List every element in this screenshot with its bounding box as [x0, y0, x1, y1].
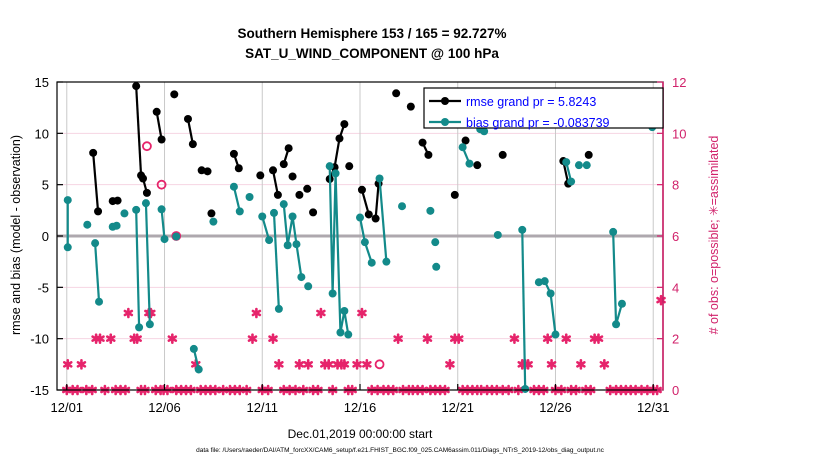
series-point — [95, 298, 103, 306]
y-axis-label-right: # of obs: o=possible; ✳=assimilated — [707, 136, 721, 335]
obs-assimilated-marker — [97, 335, 104, 343]
y-tick-label: 15 — [35, 75, 49, 90]
series-point — [230, 150, 238, 158]
series-point — [309, 208, 317, 216]
series-point — [432, 263, 440, 271]
series-point — [207, 209, 215, 217]
series-point — [89, 149, 97, 157]
series-point — [235, 164, 243, 172]
obs-assimilated-marker — [548, 360, 555, 368]
series-point — [143, 189, 151, 197]
obs-assimilated-marker — [305, 360, 312, 368]
obs-assimilated-marker — [134, 335, 141, 343]
series-point — [419, 139, 427, 147]
series-point — [494, 231, 502, 239]
legend-marker — [441, 97, 449, 105]
series-point — [132, 206, 140, 214]
x-tick-label: 12/06 — [148, 400, 181, 415]
x-tick-label: 12/01 — [51, 400, 84, 415]
obs-assimilated-marker — [563, 335, 570, 343]
obs-assimilated-marker — [169, 335, 176, 343]
y-tick-label-right: 8 — [672, 178, 679, 193]
series-point — [431, 238, 439, 246]
series-point — [142, 199, 150, 207]
series-point — [132, 82, 140, 90]
series-point — [392, 89, 400, 97]
y-tick-label: -10 — [30, 332, 49, 347]
x-tick-label: 12/26 — [539, 400, 572, 415]
x-tick-label: 12/21 — [441, 400, 474, 415]
obs-assimilated-marker — [341, 360, 348, 368]
series-point — [583, 161, 591, 169]
obs-assimilated-marker — [125, 309, 132, 317]
series-point — [289, 172, 297, 180]
series-point — [270, 209, 278, 217]
series-point — [285, 144, 293, 152]
series-point — [344, 331, 352, 339]
obs-assimilated-marker — [317, 309, 324, 317]
obs-assimilated-marker — [296, 360, 303, 368]
series-point — [424, 151, 432, 159]
series-point — [329, 289, 337, 297]
series-point — [499, 151, 507, 159]
series-point — [326, 162, 334, 170]
obs-assimilated-marker — [446, 360, 453, 368]
obs-assimilated-marker — [249, 335, 256, 343]
obs-assimilated-marker — [253, 309, 260, 317]
series-point — [426, 207, 434, 215]
obs-assimilated-marker — [511, 335, 518, 343]
obs-assimilated-marker — [64, 360, 71, 368]
obs-assimilated-marker — [544, 335, 551, 343]
y-tick-label: 10 — [35, 126, 49, 141]
series-point — [94, 207, 102, 215]
obs-assimilated-marker — [270, 335, 277, 343]
y-tick-label-right: 4 — [672, 280, 679, 295]
series-point — [336, 329, 344, 337]
series-point — [304, 282, 312, 290]
series-point — [146, 320, 154, 328]
obs-assimilated-marker — [363, 360, 370, 368]
y-axis-label: rmse and bias (model - observation) — [9, 135, 23, 335]
series-point — [230, 183, 238, 191]
obs-assimilated-marker — [78, 360, 85, 368]
x-tick-label: 12/11 — [246, 400, 278, 415]
legend-label: rmse grand pr = 5.8243 — [466, 95, 596, 109]
plot-figure: Southern Hemisphere 153 / 165 = 92.727% … — [0, 0, 830, 470]
series-point — [365, 210, 373, 218]
obs-assimilated-marker — [601, 360, 608, 368]
data-file-footer: data file: /Users/raeder/DAI/ATM_forcXX/… — [196, 447, 605, 454]
y-tick-label: 0 — [42, 229, 49, 244]
series-point — [113, 222, 121, 230]
y-tick-label: -5 — [37, 280, 49, 295]
obs-assimilated-marker — [577, 360, 584, 368]
series-point — [83, 221, 91, 229]
y-tick-label-right: 6 — [672, 229, 679, 244]
series-point — [189, 140, 197, 148]
series-point — [382, 258, 390, 266]
y-tick-label-right: 10 — [672, 126, 686, 141]
series-point — [280, 200, 288, 208]
series-point — [541, 277, 549, 285]
series-point — [204, 167, 212, 175]
series-point — [289, 212, 297, 220]
y-tick-label-right: 12 — [672, 75, 686, 90]
series-point — [158, 205, 166, 213]
series-point — [567, 178, 575, 186]
series-point — [91, 239, 99, 247]
series-point — [120, 209, 128, 217]
series-point — [585, 151, 593, 159]
y-tick-label-right: 2 — [672, 332, 679, 347]
series-point — [358, 186, 366, 194]
series-point — [209, 218, 217, 226]
series-point — [158, 135, 166, 143]
obs-assimilated-marker — [354, 360, 361, 368]
x-tick-label: 12/31 — [637, 400, 670, 415]
series-point — [246, 193, 254, 201]
series-point — [284, 241, 292, 249]
series-point — [473, 161, 481, 169]
series-point — [190, 345, 198, 353]
legend-marker — [441, 118, 449, 126]
series-point — [345, 162, 353, 170]
series-point — [551, 331, 559, 339]
series-point — [332, 169, 340, 177]
series-point — [184, 115, 192, 123]
series-point — [465, 160, 473, 168]
series-point — [256, 171, 264, 179]
series-point — [274, 191, 282, 199]
plot-subtitle: SAT_U_WIND_COMPONENT @ 100 hPa — [245, 46, 499, 61]
series-point — [376, 175, 384, 183]
series-point — [265, 236, 273, 244]
series-point — [303, 185, 311, 193]
series-point — [114, 197, 122, 205]
series-point — [170, 90, 178, 98]
series-point — [575, 161, 583, 169]
series-point — [161, 235, 169, 243]
series-point — [295, 191, 303, 199]
series-point — [258, 212, 266, 220]
series-point — [562, 158, 570, 166]
obs-assimilated-marker — [107, 335, 114, 343]
obs-assimilated-marker — [395, 335, 402, 343]
series-point — [609, 228, 617, 236]
y-tick-label-right: 0 — [672, 383, 679, 398]
series-point — [451, 191, 459, 199]
x-axis-label: Dec.01,2019 00:00:00 start — [288, 427, 433, 441]
obs-assimilated-marker — [455, 335, 462, 343]
series-point — [269, 166, 277, 174]
series-point — [356, 214, 364, 222]
series-point — [372, 215, 380, 223]
obs-assimilated-marker — [275, 360, 282, 368]
series-point — [153, 108, 161, 116]
series-point — [407, 103, 415, 111]
series-point — [135, 323, 143, 331]
series-point — [340, 307, 348, 315]
series-point — [398, 202, 406, 210]
series-point — [139, 175, 147, 183]
series-point — [64, 196, 72, 204]
plot-legend[interactable]: rmse grand pr = 5.8243bias grand pr = -0… — [424, 88, 663, 130]
series-point — [297, 273, 305, 281]
y-tick-label: -15 — [30, 383, 49, 398]
series-point — [172, 233, 180, 241]
series-point — [547, 289, 555, 297]
plot-title: Southern Hemisphere 153 / 165 = 92.727% — [237, 26, 506, 41]
series-point — [195, 365, 203, 373]
series-point — [335, 134, 343, 142]
series-point — [292, 240, 300, 248]
series-point — [459, 143, 467, 151]
series-point — [275, 305, 283, 313]
series-point — [236, 207, 244, 215]
series-point — [612, 320, 620, 328]
obs-assimilated-marker — [424, 335, 431, 343]
obs-assimilated-marker — [595, 335, 602, 343]
series-point — [368, 259, 376, 267]
y-tick-label: 5 — [42, 178, 49, 193]
series-point — [518, 226, 526, 234]
obs-assimilated-marker — [358, 309, 365, 317]
obs-assimilated-marker — [325, 360, 332, 368]
series-point — [280, 160, 288, 168]
legend-label: bias grand pr = -0.083739 — [466, 116, 610, 130]
series-point — [521, 385, 529, 393]
series-point — [340, 120, 348, 128]
series-point — [618, 300, 626, 308]
x-tick-label: 12/16 — [344, 400, 377, 415]
series-point — [64, 243, 72, 251]
series-point — [361, 238, 369, 246]
